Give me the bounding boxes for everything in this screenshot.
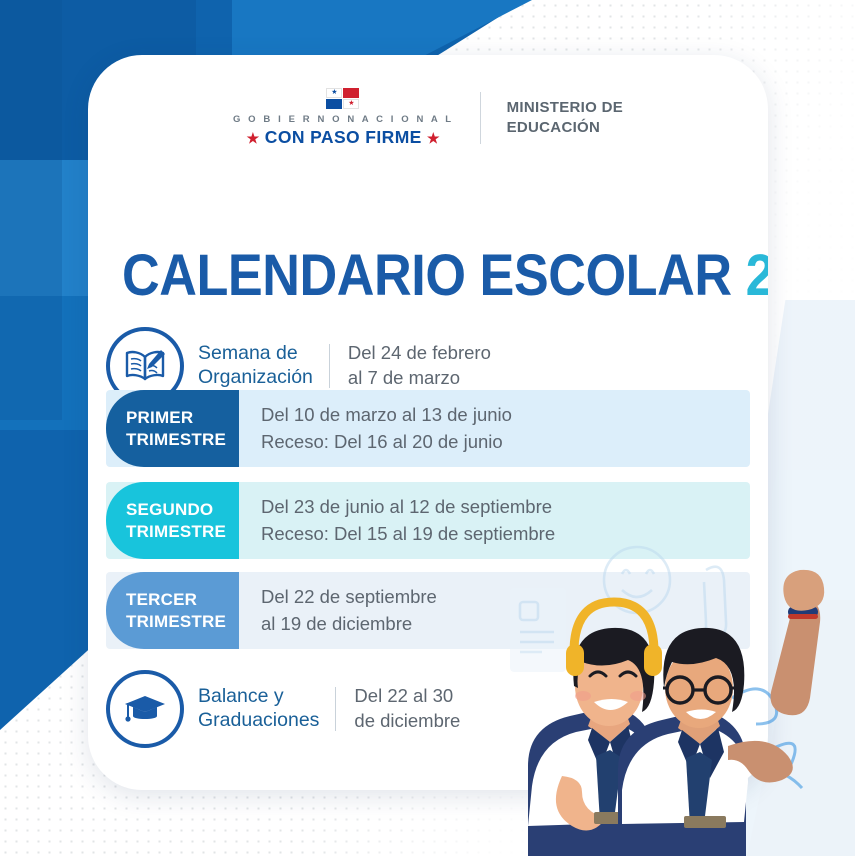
trimester-name-line-2: TRIMESTRE <box>126 521 239 542</box>
trimester-name-line-2: TRIMESTRE <box>126 611 239 632</box>
organizacion-date-line-2: al 7 de marzo <box>348 366 491 391</box>
trimester-name-line-1: TERCER <box>126 589 239 610</box>
table-row: PRIMER TRIMESTRE Del 10 de marzo al 13 d… <box>106 390 750 467</box>
trimester-name-line-1: PRIMER <box>126 407 239 428</box>
graduaciones-label-line-1: Balance y <box>198 685 319 709</box>
panama-flag-icon: ★★ <box>326 88 360 110</box>
graduaciones-dates: Del 22 al 30 de diciembre <box>354 684 460 733</box>
government-line: G O B I E R N O N A C I O N A L <box>233 114 454 125</box>
organizacion-label: Semana de Organización <box>198 342 313 390</box>
organizacion-dates: Del 24 de febrero al 7 de marzo <box>348 341 491 390</box>
trimester-pill: TERCER TRIMESTRE <box>106 572 239 649</box>
graduation-cap-icon <box>106 670 184 748</box>
government-logo: ★★ G O B I E R N O N A C I O N A L ★ CON… <box>233 88 480 148</box>
organizacion-divider <box>329 344 330 388</box>
government-slogan: ★ CON PASO FIRME ★ <box>247 127 440 148</box>
title-main: CALENDARIO ESCOLAR <box>122 243 732 308</box>
organizacion-label-line-1: Semana de <box>198 342 313 366</box>
trimester-pill: SEGUNDO TRIMESTRE <box>106 482 239 559</box>
star-right-icon: ★ <box>427 130 440 146</box>
page-title: CALENDARIO ESCOLAR 2025 <box>122 247 734 305</box>
trimester-name-line-1: SEGUNDO <box>126 499 239 520</box>
star-left-icon: ★ <box>247 130 260 146</box>
ministry-name: MINISTERIO DE EDUCACIÓN <box>481 98 623 138</box>
ministry-line-2: EDUCACIÓN <box>507 118 623 138</box>
brand-header: ★★ G O B I E R N O N A C I O N A L ★ CON… <box>88 88 768 148</box>
trimester-date-line-2: Receso: Del 16 al 20 de junio <box>261 429 750 456</box>
trimester-name-line-2: TRIMESTRE <box>126 429 239 450</box>
row-balance-graduaciones: Balance y Graduaciones Del 22 al 30 de d… <box>106 670 460 748</box>
graduaciones-date-line-1: Del 22 al 30 <box>354 684 460 709</box>
organizacion-label-line-2: Organización <box>198 366 313 390</box>
trimester-date-line-1: Del 10 de marzo al 13 de junio <box>261 402 750 429</box>
graduaciones-label-line-2: Graduaciones <box>198 709 319 733</box>
ministry-line-1: MINISTERIO DE <box>507 98 623 118</box>
three-students-illustration <box>470 540 855 856</box>
slogan-text: CON PASO FIRME <box>265 127 422 147</box>
organizacion-date-line-1: Del 24 de febrero <box>348 341 491 366</box>
graduaciones-divider <box>335 687 336 731</box>
title-year: 2025 <box>746 243 768 308</box>
trimester-date-line-1: Del 23 de junio al 12 de septiembre <box>261 494 750 521</box>
graduaciones-date-line-2: de diciembre <box>354 709 460 734</box>
trimester-dates: Del 10 de marzo al 13 de junio Receso: D… <box>239 390 750 467</box>
graduaciones-label: Balance y Graduaciones <box>198 685 319 733</box>
trimester-pill: PRIMER TRIMESTRE <box>106 390 239 467</box>
